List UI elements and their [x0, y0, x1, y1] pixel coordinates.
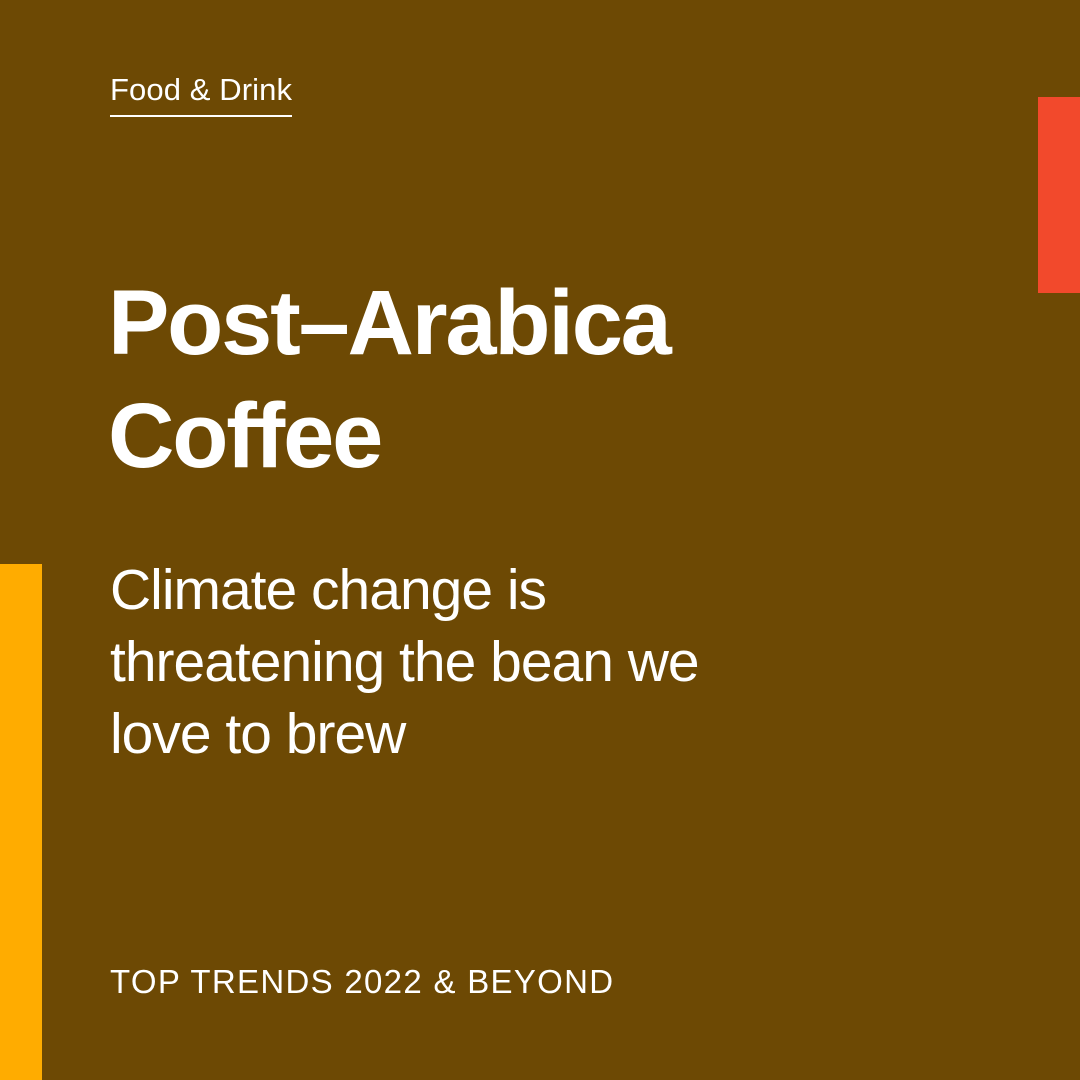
poster-canvas: Food & Drink Post–Arabica Coffee Climate…	[0, 0, 1080, 1080]
footer-label: TOP TRENDS 2022 & BEYOND	[110, 962, 614, 1002]
subtitle: Climate change is threatening the bean w…	[110, 554, 730, 770]
category-label: Food & Drink	[110, 72, 292, 117]
yellow-accent-block	[0, 564, 42, 1080]
red-accent-block	[1038, 97, 1080, 293]
page-title: Post–Arabica Coffee	[108, 267, 868, 493]
